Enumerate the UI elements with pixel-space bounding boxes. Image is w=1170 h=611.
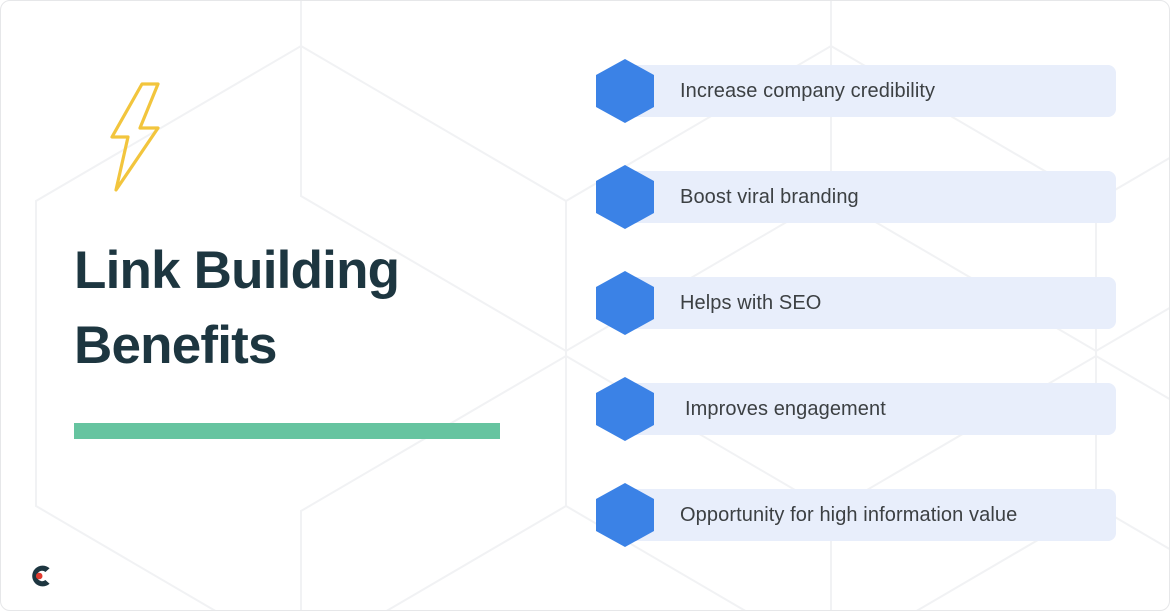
page-title-line-2: Benefits <box>74 308 514 383</box>
page-title: Link Building Benefits <box>74 233 514 383</box>
page-title-line-1: Link Building <box>74 233 514 308</box>
benefits-list: Increase company credibility Boost viral… <box>596 59 1116 547</box>
title-panel: Link Building Benefits <box>1 1 561 611</box>
benefit-item[interactable]: Improves engagement <box>596 377 1116 441</box>
benefit-label: Boost viral branding <box>680 165 859 229</box>
benefit-label: Helps with SEO <box>680 271 821 335</box>
brand-logo-icon <box>27 562 55 590</box>
benefit-label: Opportunity for high information value <box>680 483 1017 547</box>
benefit-item[interactable]: Opportunity for high information value <box>596 483 1116 547</box>
lightning-bolt-icon <box>98 81 170 193</box>
benefit-item[interactable]: Increase company credibility <box>596 59 1116 123</box>
benefit-label: Increase company credibility <box>680 59 935 123</box>
benefit-label: Improves engagement <box>685 377 886 441</box>
title-underline-bar <box>74 423 500 439</box>
slide-canvas: Link Building Benefits Increase company … <box>0 0 1170 611</box>
benefit-item[interactable]: Helps with SEO <box>596 271 1116 335</box>
benefit-item[interactable]: Boost viral branding <box>596 165 1116 229</box>
